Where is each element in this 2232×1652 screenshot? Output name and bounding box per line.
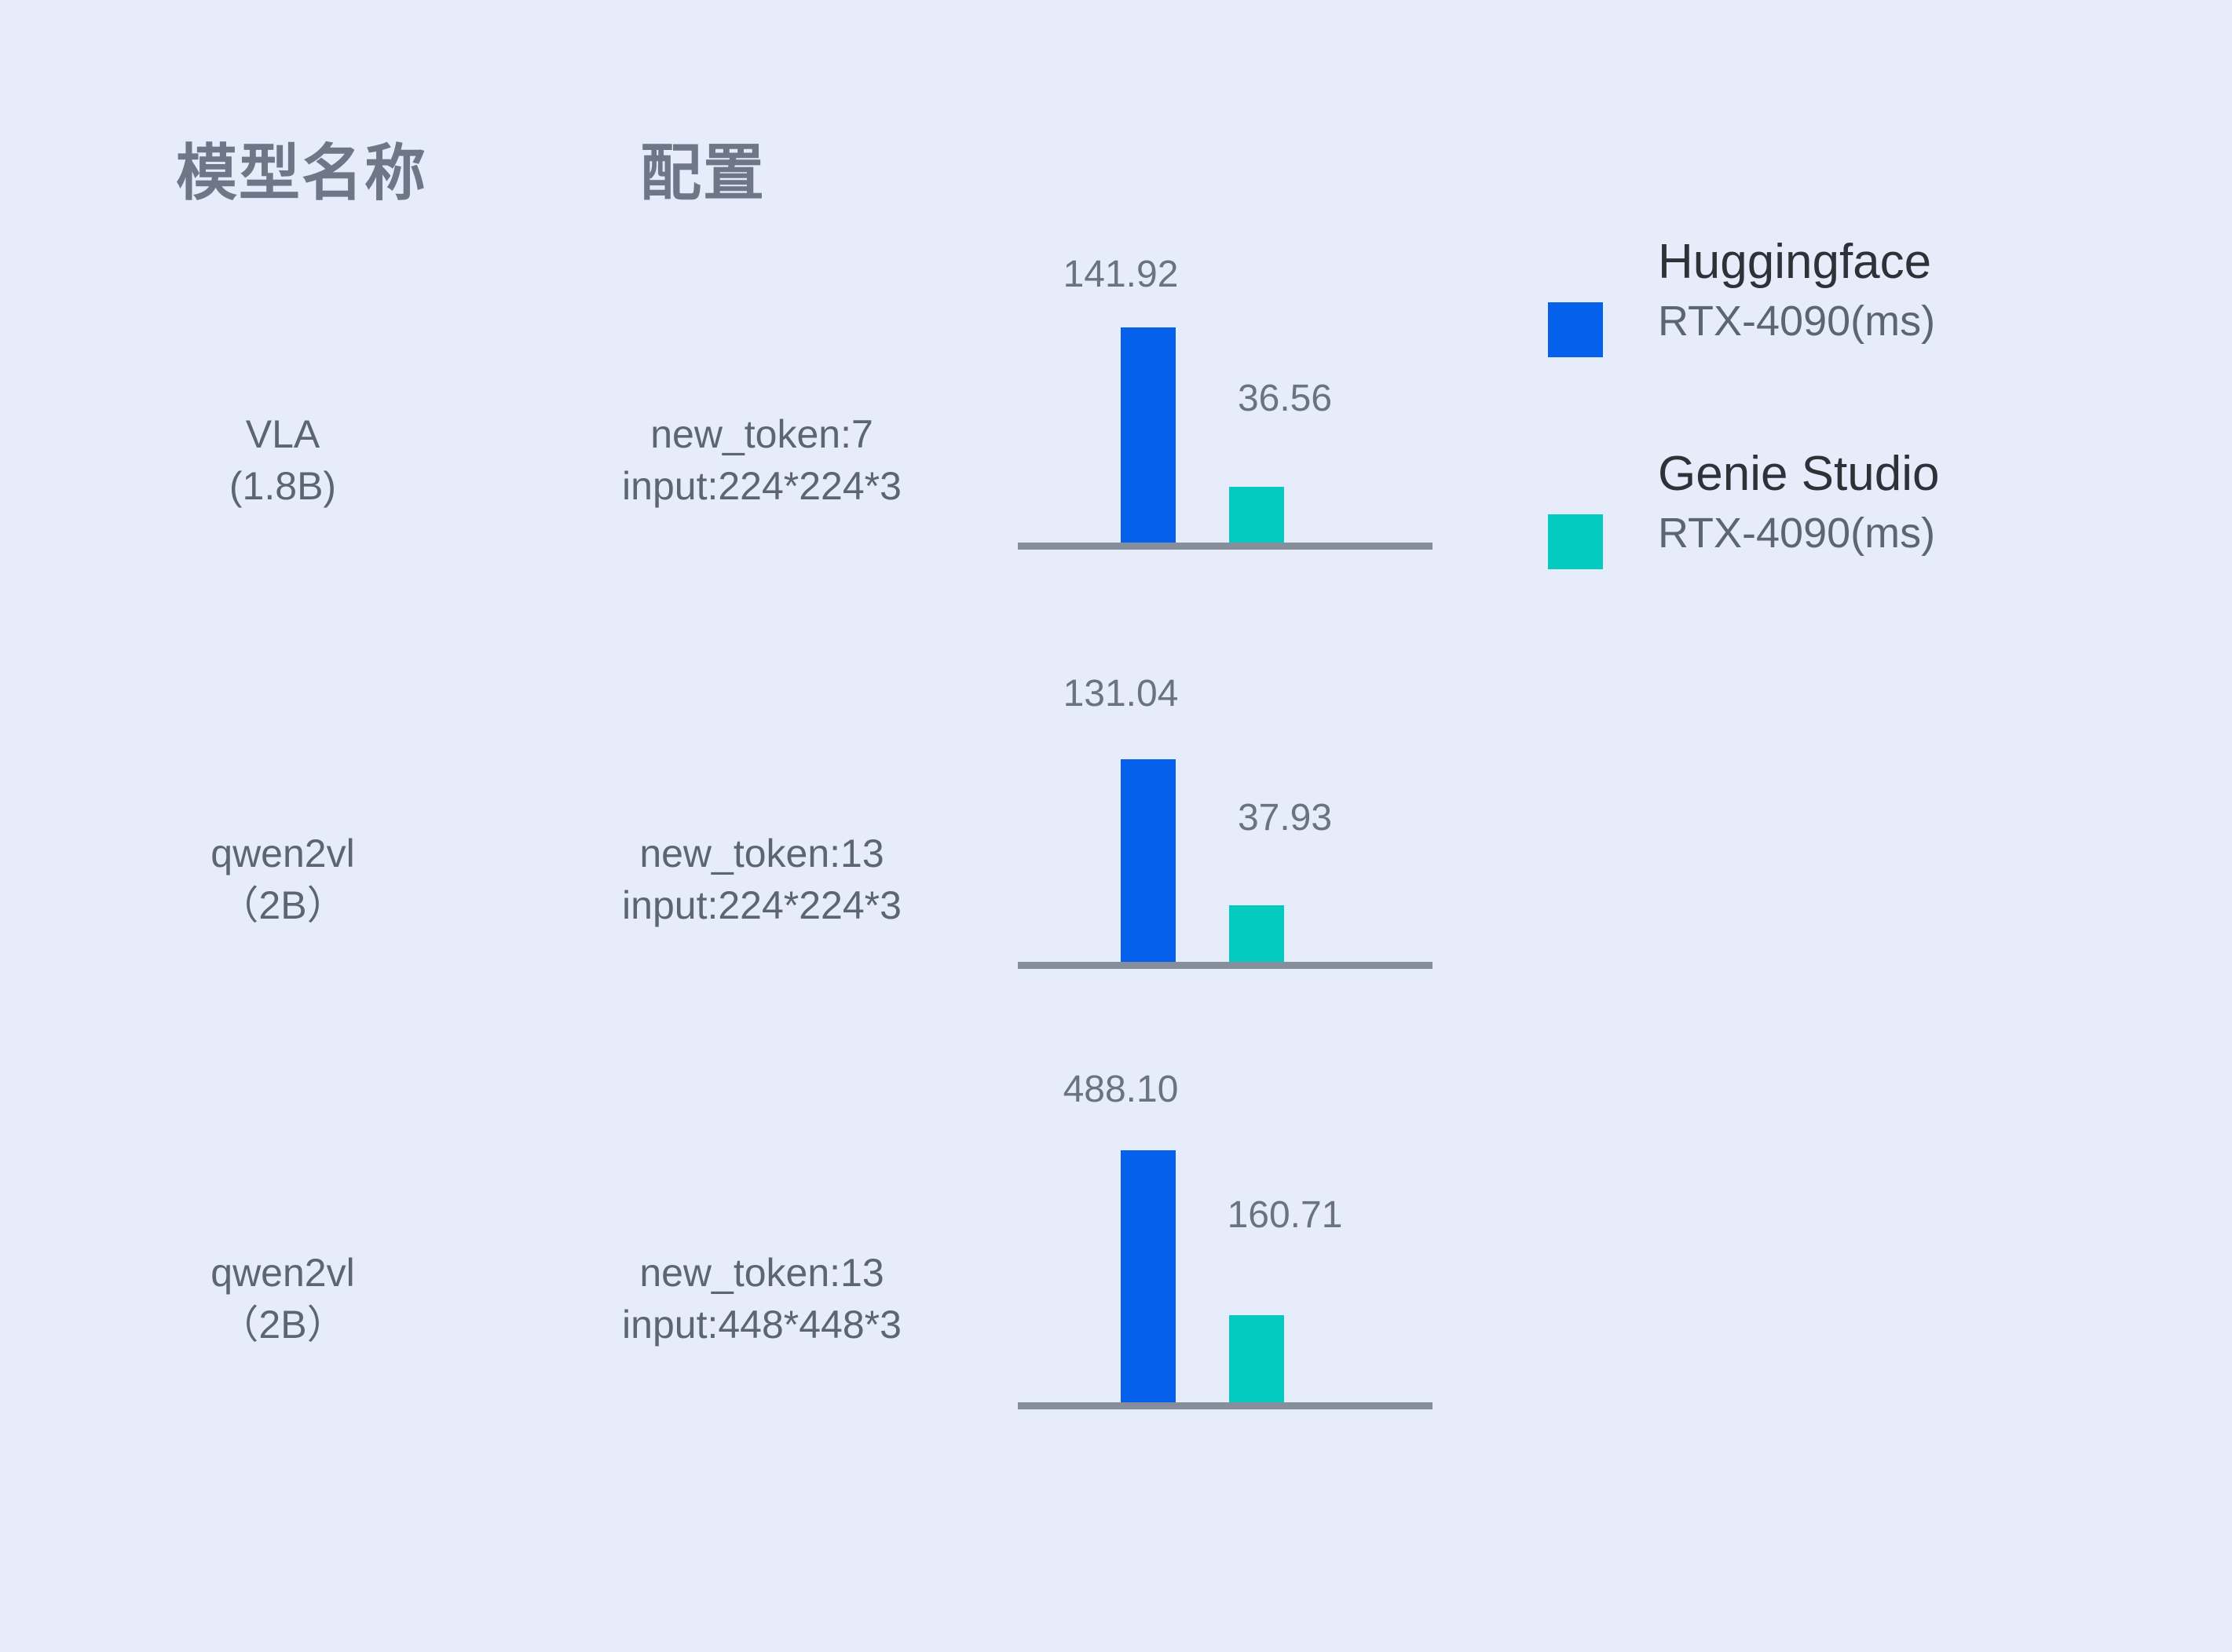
bar-huggingface[interactable] (1121, 759, 1176, 962)
legend-sublabel-huggingface: RTX-4090(ms) (1658, 289, 1935, 355)
legend-text-huggingface: Huggingface RTX-4090(ms) (1658, 236, 1935, 355)
legend-label-huggingface: Huggingface (1658, 236, 1935, 289)
bar-value-label-genie-studio: 37.93 (1183, 796, 1387, 839)
row-config-label: new_token:13 input:448*448*3 (471, 1247, 1052, 1350)
row-model-label: qwen2vl （2B） (141, 828, 424, 931)
chart-legend: Huggingface RTX-4090(ms) Genie Studio RT… (1543, 236, 2093, 660)
row-model-label: VLA (1.8B) (141, 408, 424, 512)
legend-swatch-huggingface (1548, 302, 1603, 357)
bar-plot: 488.10 160.71 (1018, 1074, 1433, 1493)
row-config-tokens: new_token:13 (639, 1251, 884, 1295)
row-config-tokens: new_token:7 (650, 412, 873, 456)
bar-genie-studio[interactable] (1229, 487, 1284, 543)
row-config-label: new_token:13 input:224*224*3 (471, 828, 1052, 931)
row-model-name: qwen2vl (210, 831, 354, 875)
row-config-tokens: new_token:13 (639, 831, 884, 875)
row-config-label: new_token:7 input:224*224*3 (471, 408, 1052, 512)
legend-item-genie-studio[interactable]: Genie Studio RTX-4090(ms) (1543, 448, 2093, 660)
bar-plot: 141.92 36.56 (1018, 236, 1433, 655)
bar-value-label-huggingface: 141.92 (1019, 253, 1223, 296)
column-headers: 模型名称 配置 (0, 124, 2232, 218)
row-config-input: input:224*224*3 (471, 879, 1052, 931)
row-model-size: (1.8B) (141, 460, 424, 512)
bar-huggingface[interactable] (1121, 327, 1176, 543)
column-header-model-name: 模型名称 (176, 124, 427, 212)
row-config-input: input:448*448*3 (471, 1299, 1052, 1350)
bar-genie-studio[interactable] (1229, 1315, 1284, 1402)
baseline-rule (1018, 1402, 1433, 1409)
bar-huggingface[interactable] (1121, 1150, 1176, 1407)
row-model-size: （2B） (141, 1299, 424, 1350)
baseline-rule (1018, 543, 1433, 550)
bar-value-label-genie-studio: 36.56 (1183, 377, 1387, 420)
row-model-size: （2B） (141, 879, 424, 931)
bar-plot: 131.04 37.93 (1018, 655, 1433, 1074)
bar-value-label-genie-studio: 160.71 (1183, 1193, 1387, 1237)
bar-value-label-huggingface: 131.04 (1019, 672, 1223, 715)
legend-item-huggingface[interactable]: Huggingface RTX-4090(ms) (1543, 236, 2093, 448)
chart-row: qwen2vl （2B） new_token:13 input:448*448*… (0, 1074, 2232, 1493)
legend-sublabel-genie-studio: RTX-4090(ms) (1658, 501, 1939, 567)
row-model-name: qwen2vl (210, 1251, 354, 1295)
bar-value-label-huggingface: 488.10 (1019, 1068, 1223, 1111)
legend-label-genie-studio: Genie Studio (1658, 448, 1939, 501)
legend-text-genie-studio: Genie Studio RTX-4090(ms) (1658, 448, 1939, 567)
chart-row: qwen2vl （2B） new_token:13 input:224*224*… (0, 655, 2232, 1074)
legend-swatch-genie-studio (1548, 514, 1603, 569)
column-header-config: 配置 (640, 124, 766, 212)
bar-genie-studio[interactable] (1229, 905, 1284, 962)
row-config-input: input:224*224*3 (471, 460, 1052, 512)
row-model-name: VLA (246, 412, 320, 456)
row-model-label: qwen2vl （2B） (141, 1247, 424, 1350)
baseline-rule (1018, 962, 1433, 969)
